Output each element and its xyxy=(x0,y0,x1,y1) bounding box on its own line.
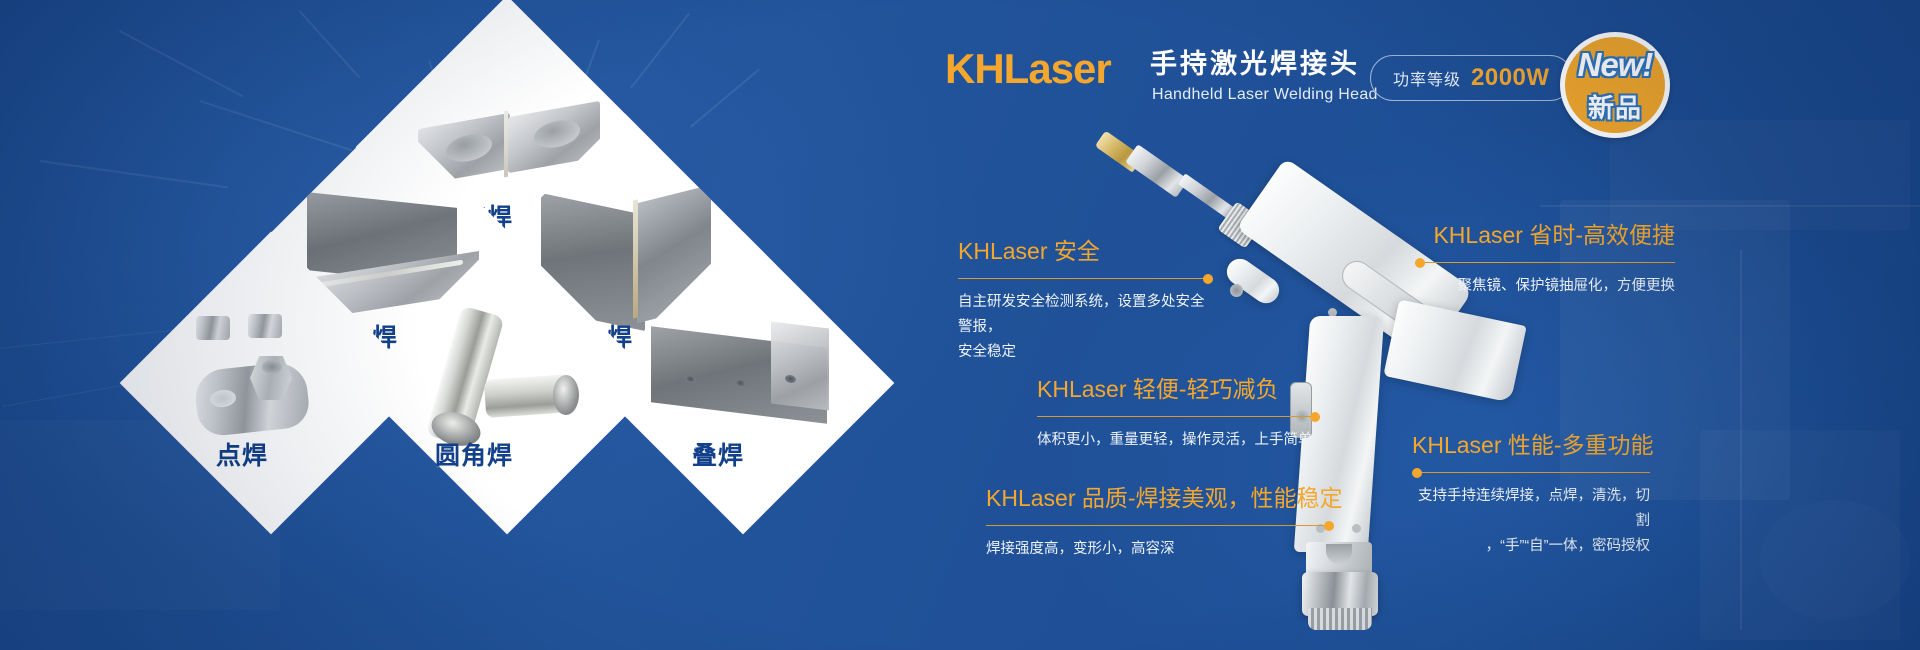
feature-lightweight: KHLaser 轻便-轻巧减负 体积更小，重量更轻，操作灵活，上手简单 xyxy=(1037,376,1320,453)
feature-performance-desc: 支持手持连续焊接，点焊，清洗，切割 ，“手”“自”一体，密码授权 xyxy=(1412,484,1650,560)
grip-screw-b xyxy=(1352,524,1361,533)
power-rating-label: 功率等级 xyxy=(1393,66,1461,90)
feature-lightweight-title: KHLaser 轻便-轻巧减负 xyxy=(1037,376,1320,404)
feature-safety-rule xyxy=(958,272,1213,286)
product-name-cn: 手持激光焊接头 xyxy=(1150,50,1360,80)
feature-time-saving: KHLaser 省时-高效便捷 聚焦镜、保护镜抽屉化，方便更换 xyxy=(1415,222,1675,299)
power-rating-value: 2000W xyxy=(1471,64,1550,92)
feature-performance: KHLaser 性能-多重功能 支持手持连续焊接，点焊，清洗，切割 ，“手”“自… xyxy=(1412,432,1650,560)
product-name-en: Handheld Laser Welding Head xyxy=(1152,86,1378,104)
promo-banner: 对接焊 阴角焊 阳角焊 xyxy=(0,0,1920,650)
feature-quality-rule xyxy=(986,519,1334,533)
feature-time-saving-rule xyxy=(1415,256,1675,270)
rear-block xyxy=(1383,299,1526,402)
new-badge-text-cn: 新品 xyxy=(1560,88,1670,125)
feature-performance-title: KHLaser 性能-多重功能 xyxy=(1412,432,1650,460)
nozzle-barrel xyxy=(1125,144,1188,198)
feature-safety: KHLaser 安全 自主研发安全检测系统，设置多处安全警报， 安全稳定 xyxy=(958,238,1213,366)
feature-quality-desc: 焊接强度高，变形小，高容深 xyxy=(986,537,1334,562)
feature-quality: KHLaser 品质-焊接美观，性能稳定 焊接强度高，变形小，高容深 xyxy=(986,485,1334,562)
nozzle-cap-knurl xyxy=(1308,608,1372,630)
feature-lightweight-rule xyxy=(1037,410,1320,424)
feature-quality-title: KHLaser 品质-焊接美观，性能稳定 xyxy=(986,485,1334,513)
feature-safety-title: KHLaser 安全 xyxy=(958,238,1213,266)
feature-time-saving-desc: 聚焦镜、保护镜抽屉化，方便更换 xyxy=(1415,274,1675,299)
brand-logo: KHLaser xyxy=(945,48,1111,90)
application-label-lap-weld: 叠焊 xyxy=(692,436,744,472)
new-badge-text-en: New! xyxy=(1560,46,1670,84)
new-product-badge: New! 新品 xyxy=(1560,32,1670,138)
mounting-lug xyxy=(1222,254,1284,309)
feature-lightweight-desc: 体积更小，重量更轻，操作灵活，上手简单 xyxy=(1037,428,1320,453)
application-label-spot-weld: 点焊 xyxy=(216,436,268,472)
power-rating-badge: 功率等级 2000W xyxy=(1370,55,1573,101)
feature-performance-rule xyxy=(1412,466,1650,480)
application-label-fillet-weld: 圆角焊 xyxy=(435,436,513,472)
feature-safety-desc: 自主研发安全检测系统，设置多处安全警报， 安全稳定 xyxy=(958,290,1213,366)
feature-time-saving-title: KHLaser 省时-高效便捷 xyxy=(1415,222,1675,250)
application-diamond-grid: 对接焊 阴角焊 阳角焊 xyxy=(112,28,832,628)
